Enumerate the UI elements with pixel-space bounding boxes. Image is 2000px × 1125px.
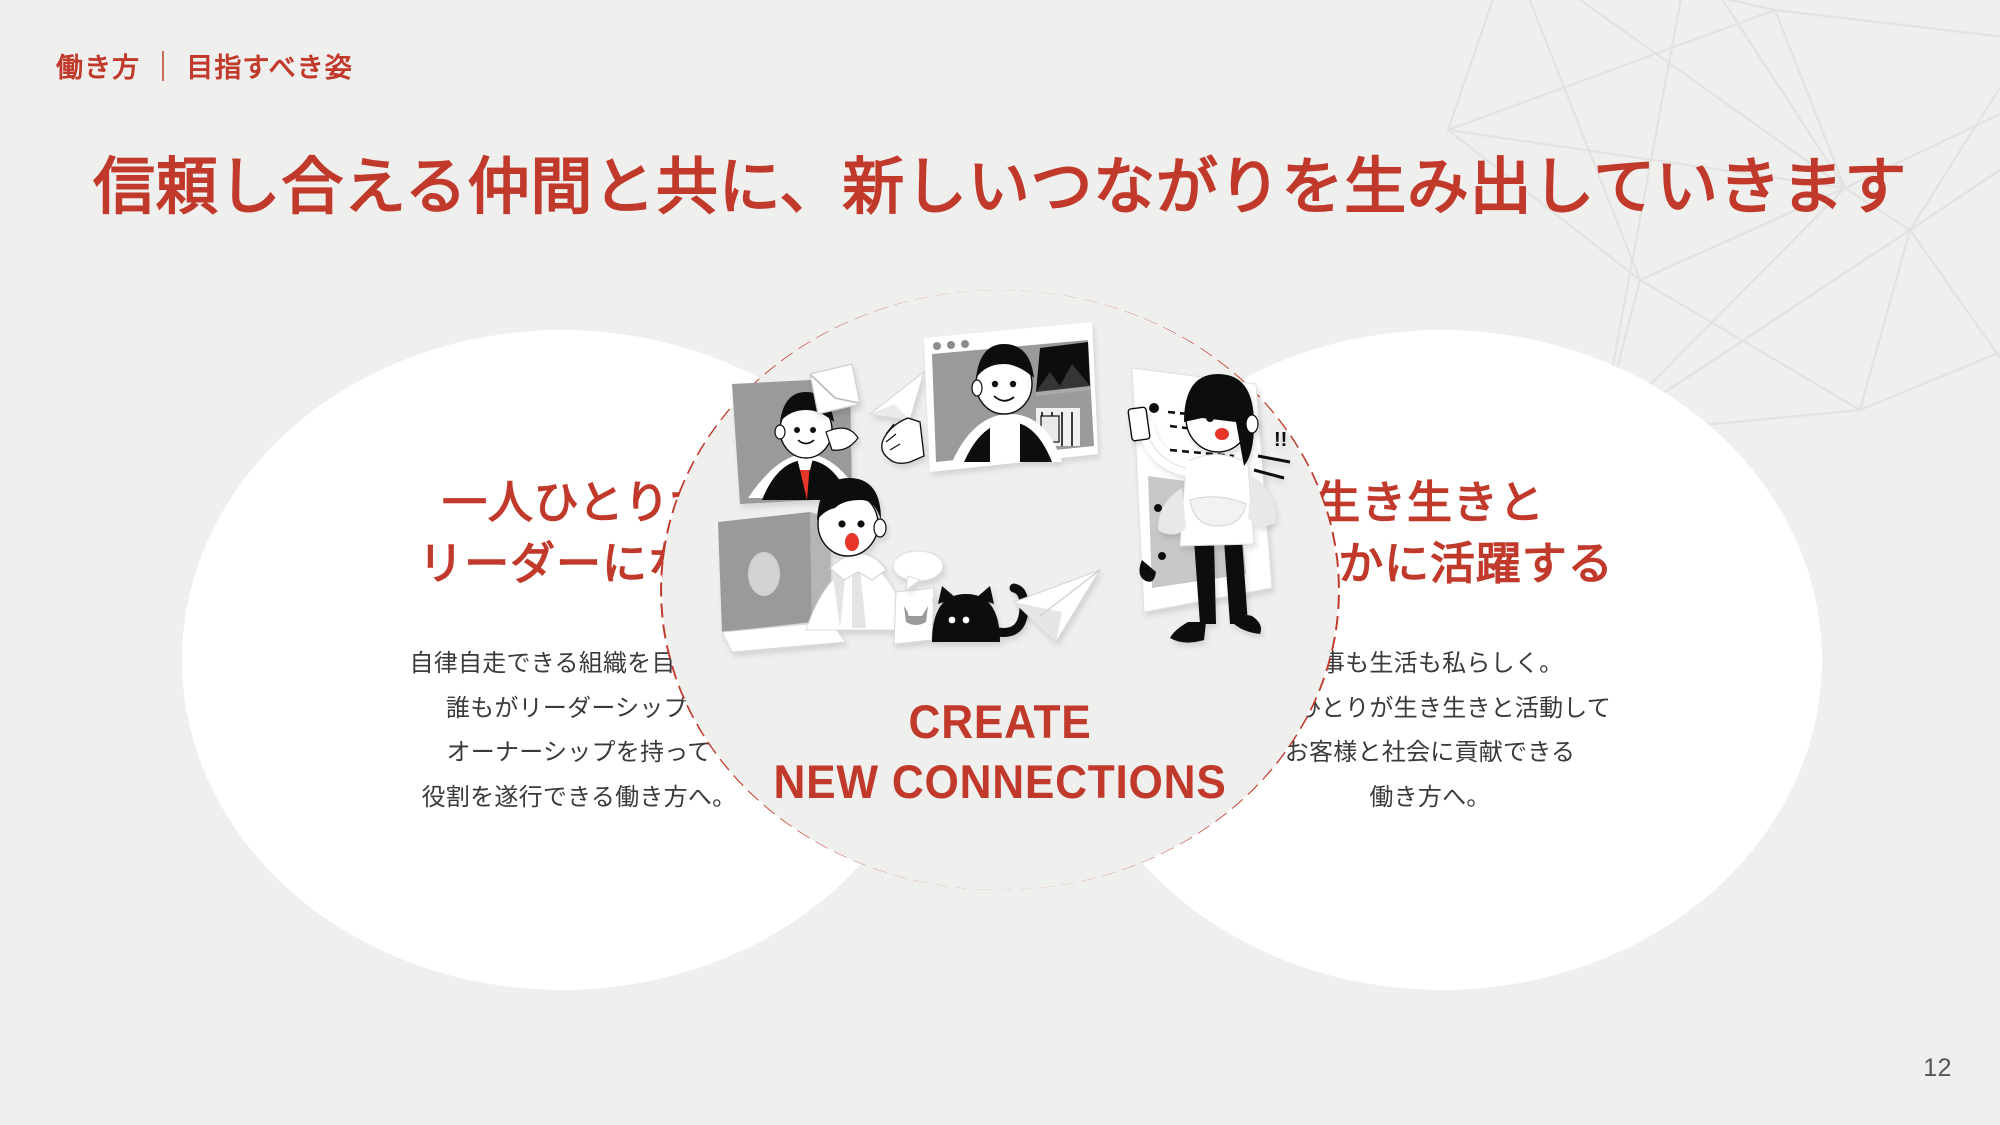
illustration-laptop-worker — [718, 478, 906, 652]
page-title: 信頼し合える仲間と共に、新しいつながりを生み出していきます — [0, 136, 2000, 226]
illustration-paper-plane-top — [870, 372, 924, 420]
venn-diagram: 一人ひとりが リーダーになる 自律自走できる組織を目指し、 誰もがリーダーシップ… — [0, 330, 2000, 990]
page-number: 12 — [1923, 1054, 1952, 1083]
remote-collaboration-illustration: !! — [718, 312, 1298, 672]
breadcrumb-category: 働き方 — [56, 46, 140, 85]
breadcrumb: 働き方 目指すべき姿 — [56, 46, 353, 85]
illustration-waving-hand — [882, 418, 924, 463]
illustration-video-window-top — [924, 322, 1098, 472]
venn-center-label-line2: NEW CONNECTIONS — [680, 752, 1319, 812]
svg-text:!!: !! — [1274, 429, 1287, 451]
illustration-paper-plane-bottom — [1014, 570, 1100, 642]
breadcrumb-divider — [162, 51, 164, 81]
illustration-envelope-icon — [810, 364, 860, 414]
illustration-cat — [932, 586, 1024, 642]
venn-center-label-line1: CREATE — [680, 692, 1319, 752]
venn-center-label: CREATE NEW CONNECTIONS — [660, 692, 1340, 812]
breadcrumb-section: 目指すべき姿 — [186, 46, 353, 85]
slide-root: 働き方 目指すべき姿 信頼し合える仲間と共に、新しいつながりを生み出していきます… — [0, 0, 2000, 1125]
illustration-speech-bubble — [893, 551, 943, 590]
